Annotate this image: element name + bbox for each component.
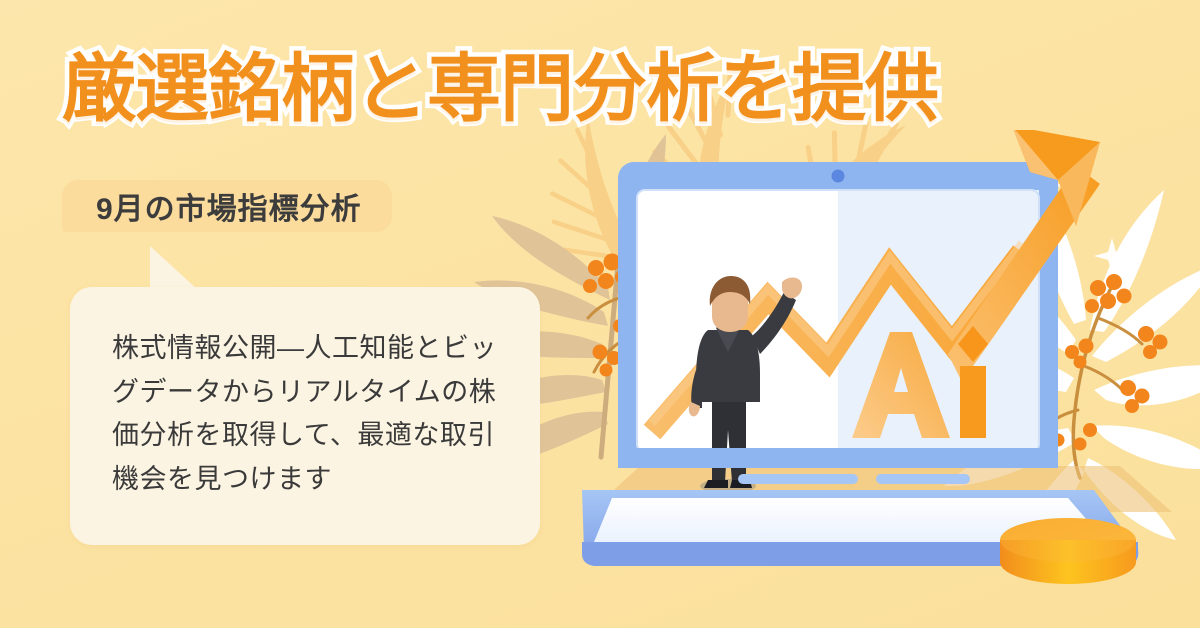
lid-bottom-bar xyxy=(618,448,1058,468)
ai-logo-i-stem xyxy=(960,366,986,438)
description-text: 株式情報公開—人工知能とビッグデータからリアルタイムの株価分析を取得して、最適な… xyxy=(112,327,498,502)
gold-coin xyxy=(1000,518,1136,584)
speech-bubble: 株式情報公開—人工知能とビッグデータからリアルタイムの株価分析を取得して、最適な… xyxy=(70,287,540,545)
status-badge: 9月の市場指標分析 xyxy=(62,180,392,232)
laptop-camera xyxy=(832,170,845,183)
status-badge-label: 9月の市場指標分析 xyxy=(96,184,362,228)
keyboard-bar-2 xyxy=(876,474,970,484)
figure-shoe-left xyxy=(704,480,728,488)
promo-banner: 厳選銘柄と専門分析を提供 9月の市場指標分析 株式情報公開—人工知能とビッグデー… xyxy=(0,0,1200,628)
page-title: 厳選銘柄と専門分析を提供 xyxy=(62,52,938,126)
speech-bubble-tail xyxy=(150,246,198,290)
keyboard-bar-1 xyxy=(738,474,858,484)
laptop-illustration xyxy=(560,130,1200,628)
